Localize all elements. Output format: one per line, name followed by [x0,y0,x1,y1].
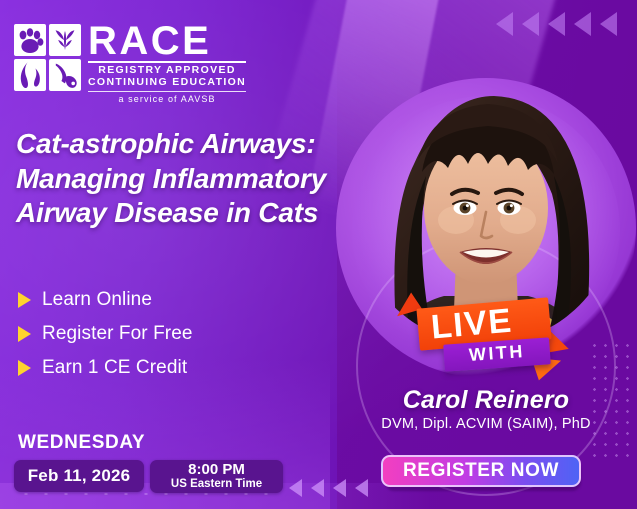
schedule-pills: Feb 11, 2026 8:00 PM US Eastern Time [14,460,283,493]
title-line-3: Airway Disease in Cats [16,196,388,231]
paw-print-tile-icon [14,24,46,56]
chevron-left-icon [311,479,324,497]
race-logo-text: RACE [88,22,246,60]
list-item-label: Earn 1 CE Credit [42,357,187,379]
time-text: 8:00 PM [188,462,245,477]
chevron-left-icon [289,479,302,497]
webinar-promo-poster: RACE REGISTRY APPROVED CONTINUING EDUCAT… [0,0,637,509]
weekday-label: WEDNESDAY [18,432,145,454]
date-text: Feb 11, 2026 [28,466,131,486]
page-title: Cat-astrophic Airways: Managing Inflamma… [16,127,388,231]
list-item: Learn Online [18,283,193,317]
triangle-bullet-icon [18,326,31,342]
chevron-row-top [496,12,617,36]
list-item-label: Register For Free [42,323,193,345]
race-logo-wordmark: RACE REGISTRY APPROVED CONTINUING EDUCAT… [88,22,246,104]
chevron-left-icon [600,12,617,36]
title-line-2: Managing Inflammatory [16,162,388,197]
leaf-pair-tile-icon [14,59,46,91]
timezone-text: US Eastern Time [171,478,262,492]
chevron-left-icon [548,12,565,36]
leaf-sprig-tile-icon [49,24,81,56]
race-logo-rule-2 [88,91,246,92]
chevron-left-icon [574,12,591,36]
race-logo-line2: CONTINUING EDUCATION [88,77,246,89]
speaker-credentials: DVM, Dipl. ACVIM (SAIM), PhD [342,416,630,432]
register-now-button[interactable]: REGISTER NOW [381,455,581,487]
chevron-row-bottom [289,479,368,497]
triangle-bullet-icon [18,360,31,376]
race-logo: RACE REGISTRY APPROVED CONTINUING EDUCAT… [14,22,246,104]
race-logo-line3: a service of AAVSB [88,94,246,104]
race-logo-rule [88,61,246,63]
list-item-label: Learn Online [42,289,152,311]
race-logo-tiles [14,24,81,91]
time-badge: 8:00 PM US Eastern Time [150,460,283,493]
live-with-badge: LIVE WITH [418,303,550,368]
chevron-left-icon [496,12,513,36]
chevron-left-icon [333,479,346,497]
speaker-name: Carol Reinero [352,386,620,415]
rabbit-tile-icon [49,59,81,91]
date-badge: Feb 11, 2026 [14,460,144,492]
list-item: Earn 1 CE Credit [18,351,193,385]
chevron-left-icon [522,12,539,36]
title-line-1: Cat-astrophic Airways: [16,127,388,162]
benefits-list: Learn Online Register For Free Earn 1 CE… [18,283,193,385]
with-label: WITH [468,341,525,365]
triangle-bullet-icon [18,292,31,308]
chevron-left-icon [355,479,368,497]
register-now-label: REGISTER NOW [403,460,559,482]
list-item: Register For Free [18,317,193,351]
